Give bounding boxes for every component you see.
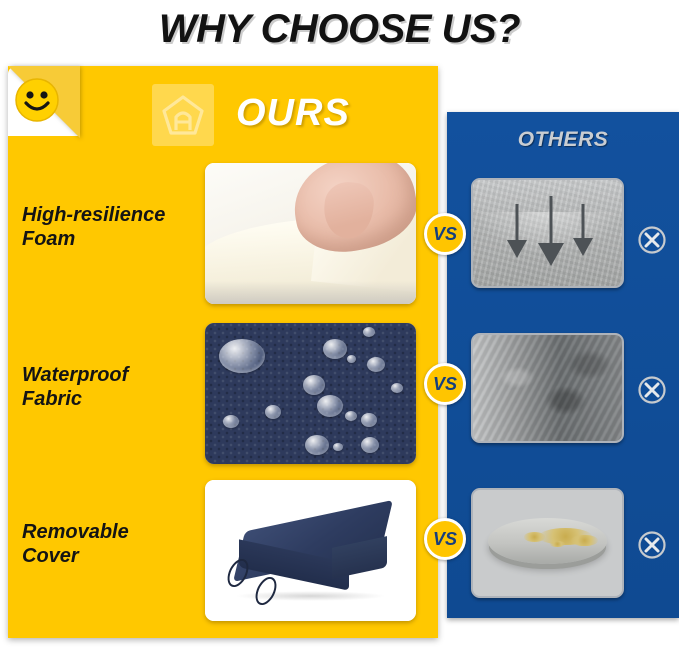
down-arrow-icon — [573, 204, 593, 242]
others-image-stained-cushion — [471, 488, 624, 598]
down-arrow-icon — [539, 196, 563, 248]
feature-label-waterproof-fabric: Waterproof Fabric — [22, 363, 202, 412]
smiley-face-icon — [13, 76, 61, 124]
ours-image-waterproof-fabric — [205, 323, 416, 464]
circle-x-icon-row-1 — [637, 225, 667, 255]
others-image-sagging-fabric — [471, 178, 624, 288]
page-title: WHY CHOOSE US? — [0, 0, 679, 58]
ours-image-removable-cover — [205, 480, 416, 621]
others-image-wet-fabric — [471, 333, 624, 443]
circle-x-icon-row-3 — [637, 530, 667, 560]
others-header: OTHERS — [447, 128, 679, 152]
vs-badge-row-2: VS — [424, 363, 466, 405]
vs-badge-row-3: VS — [424, 518, 466, 560]
ours-image-hand-pressing-foam — [205, 163, 416, 304]
feature-label-removable-cover: Removable Cover — [22, 520, 202, 569]
house-pentagon-logo-icon — [152, 84, 214, 146]
down-arrow-icon — [507, 204, 527, 244]
feature-label-high-resilience-foam: High-resilience Foam — [22, 203, 202, 252]
vs-badge-row-1: VS — [424, 213, 466, 255]
ours-header: OURS — [236, 92, 350, 135]
circle-x-icon-row-2 — [637, 375, 667, 405]
